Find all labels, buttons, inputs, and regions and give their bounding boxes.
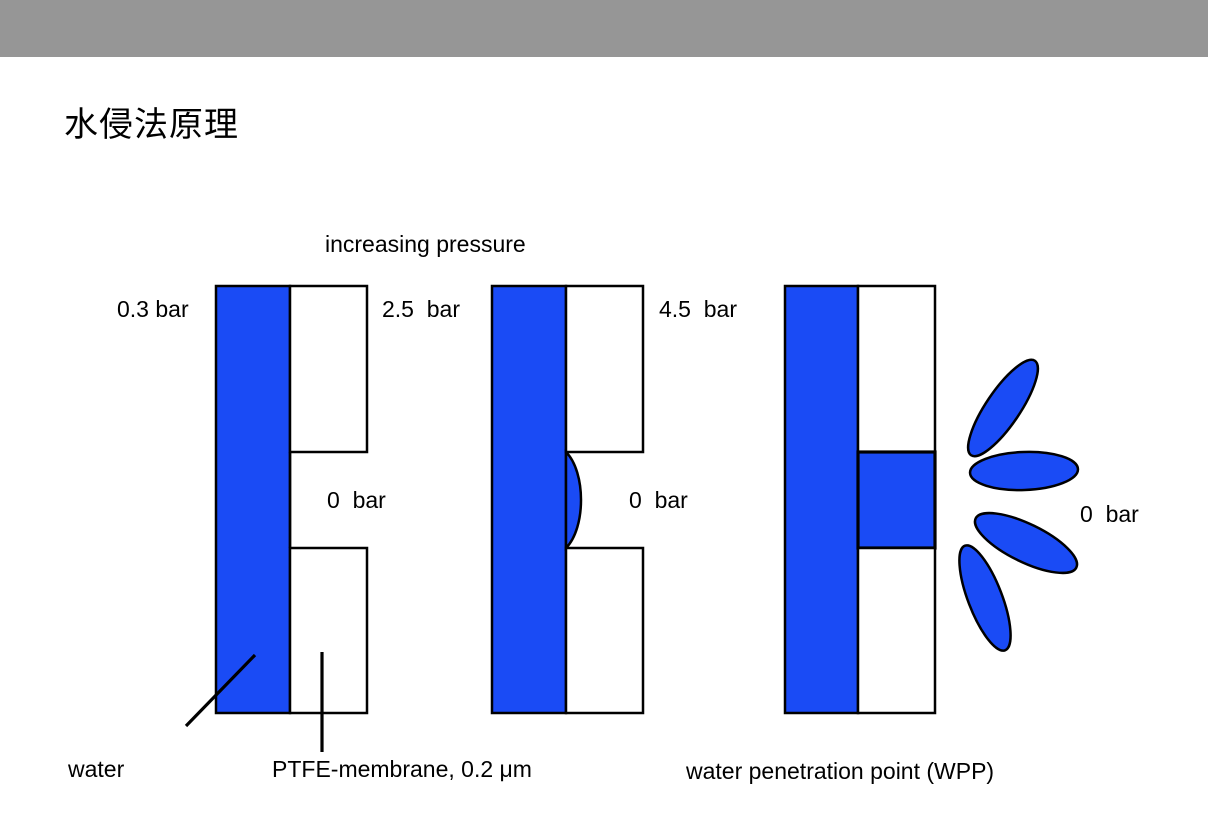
panel-3-gap-pressure-label: 0 bar [1080,500,1139,528]
panel-1-group [186,286,367,752]
panel-3-group [785,286,1085,713]
panel-1-membrane-upper [290,286,367,452]
panel-2-group [492,286,643,713]
panel-3-water-column [785,286,858,713]
panel-3-penetrated-pore [858,452,935,548]
wpp-caption: water penetration point (WPP) [686,757,994,785]
panel-1-membrane-lower [290,548,367,713]
panel-2-meniscus-bulge [566,452,581,548]
spray-droplet-1 [957,351,1049,465]
panel-2-membrane-upper [566,286,643,452]
panel-1-upstream-pressure-label: 0.3 bar [117,295,189,323]
panel-3-membrane-lower [858,548,935,713]
panel-1-downstream-pressure-label: 2.5 bar [382,295,460,323]
panel-2-downstream-pressure-label: 4.5 bar [659,295,737,323]
panel-1-water-column [216,286,290,713]
spray-droplet-2 [969,450,1078,492]
panel-2-membrane-lower [566,548,643,713]
panel-2-gap-pressure-label: 0 bar [629,486,688,514]
water-caption: water [68,755,124,783]
increasing-pressure-label: increasing pressure [325,230,526,258]
panel-1-gap-pressure-label: 0 bar [327,486,386,514]
membrane-caption: PTFE-membrane, 0.2 μm [272,755,532,783]
water-intrusion-diagram [0,0,1208,814]
panel-2-water-column [492,286,566,713]
panel-3-membrane-upper [858,286,935,452]
